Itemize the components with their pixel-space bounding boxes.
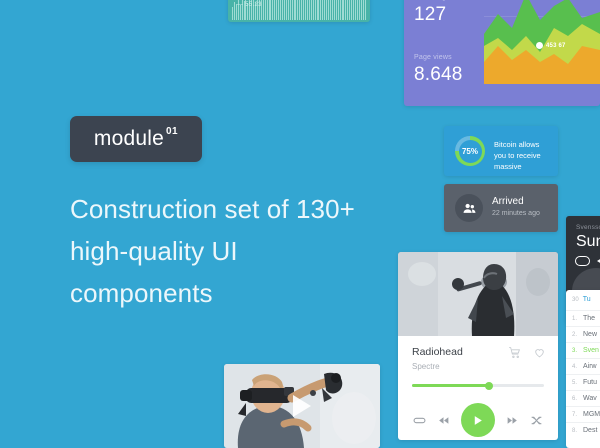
playlist-header: 30 Tu: [572, 296, 591, 303]
playlist-link[interactable]: Tu: [583, 296, 591, 303]
vr-video-card[interactable]: [224, 364, 380, 448]
playlist-row-index: 2.: [572, 332, 579, 338]
progress-fill: [412, 384, 489, 387]
repeat-icon[interactable]: [413, 414, 426, 427]
stat-label: Page views: [414, 52, 480, 64]
stat-value: 8.648: [414, 64, 480, 86]
music-player-card: Radiohead Spectre: [398, 252, 558, 440]
video-subtitle: Svensson: [576, 224, 600, 231]
track-artist: Radiohead: [412, 346, 463, 358]
playlist-row-index: 1.: [572, 316, 579, 322]
playlist-row-title: Wav: [583, 395, 597, 402]
waveform-value-label: — 55.23: [237, 2, 262, 8]
album-art: [398, 252, 558, 336]
arrived-timestamp: 22 minutes ago: [492, 210, 540, 217]
playlist-row-index: 5.: [572, 380, 579, 386]
playlist-row-title: Dest: [583, 427, 597, 434]
progress-slider[interactable]: [412, 384, 544, 387]
player-controls: [398, 400, 558, 440]
playlist-row-index: 7.: [572, 412, 579, 418]
playlist-row-index: 4.: [572, 364, 579, 370]
play-icon: [471, 414, 484, 427]
module-badge-superscript: 01: [166, 126, 178, 137]
playlist-row-index: 8.: [572, 428, 579, 434]
playlist-row-index: 6.: [572, 396, 579, 402]
bitcoin-card[interactable]: 75% Bitcoin allows you to receive massiv…: [444, 126, 558, 176]
module-badge: module 01: [70, 116, 202, 162]
next-icon[interactable]: [506, 414, 519, 427]
playlist-row-title: MGM: [583, 411, 600, 418]
progress-percent: 75%: [462, 147, 478, 156]
video-controls[interactable]: [575, 256, 600, 266]
playlist-row[interactable]: 2.New: [566, 326, 600, 342]
playlist-count: 30: [572, 297, 579, 303]
arrived-card[interactable]: Arrived 22 minutes ago: [444, 184, 558, 232]
stat-value: 127: [414, 4, 480, 26]
playlist-row-title: New: [583, 331, 597, 338]
analytics-stats: 1.697 Recurring Users 127 Page views 8.6…: [414, 0, 480, 86]
playlist-row-title: Airw: [583, 363, 597, 370]
page-title: Construction set of 130+ high-quality UI…: [70, 188, 370, 314]
tooltip-value: 453 67: [546, 43, 566, 49]
playlist-card: 30 Tu 1.The2.New3.Sven4.Airw5.Futu6.Wav7…: [566, 290, 600, 448]
cart-icon[interactable]: [508, 346, 521, 359]
playlist-row-title: The: [583, 315, 595, 322]
pill-icon[interactable]: [575, 256, 590, 266]
arrived-title: Arrived: [492, 196, 524, 207]
playlist-rows: 1.The2.New3.Sven4.Airw5.Futu6.Wav7.MGM8.…: [566, 310, 600, 438]
playlist-row[interactable]: 1.The: [566, 310, 600, 326]
bitcoin-text: Bitcoin allows you to receive massive: [494, 139, 552, 172]
playlist-row[interactable]: 6.Wav: [566, 390, 600, 406]
playlist-row[interactable]: 5.Futu: [566, 374, 600, 390]
playlist-row-title: Futu: [583, 379, 597, 386]
waveform-card: — 55.23: [228, 0, 370, 22]
shuffle-icon[interactable]: [530, 414, 543, 427]
playlist-row[interactable]: 7.MGM: [566, 406, 600, 422]
chart-tooltip: 453 67: [536, 42, 566, 49]
playlist-row[interactable]: 3.Sven: [566, 342, 600, 358]
track-name: Spectre: [412, 362, 440, 371]
previous-icon[interactable]: [437, 414, 450, 427]
play-triangle-icon[interactable]: [293, 395, 311, 417]
play-button[interactable]: [461, 403, 495, 437]
heart-icon[interactable]: [533, 346, 546, 359]
promo-canvas: module 01 Construction set of 130+ high-…: [0, 0, 600, 440]
playlist-row-title: Sven: [583, 347, 599, 354]
area-chart: 453 67: [484, 0, 600, 84]
playlist-row-index: 3.: [572, 348, 579, 354]
progress-knob[interactable]: [485, 382, 493, 390]
people-icon: [455, 194, 483, 222]
video-title: Sunl: [576, 233, 600, 251]
playlist-row[interactable]: 8.Dest: [566, 422, 600, 438]
player-actions: [508, 346, 546, 359]
analytics-card: 1.697 Recurring Users 127 Page views 8.6…: [404, 0, 600, 106]
playlist-row[interactable]: 4.Airw: [566, 358, 600, 374]
donut-progress-icon: 75%: [455, 136, 485, 166]
module-badge-word: module: [94, 127, 164, 151]
tooltip-dot: [536, 42, 543, 49]
